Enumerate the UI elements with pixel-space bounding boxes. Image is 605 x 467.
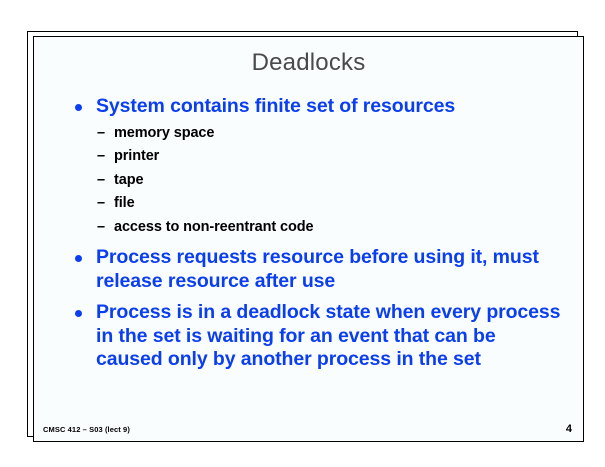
en-dash-icon: –: [97, 169, 105, 193]
sub-bullet-item: – tape: [66, 169, 566, 193]
bullet-item-1: System contains finite set of resources: [66, 95, 566, 119]
en-dash-icon: –: [97, 192, 105, 216]
sub-bullet-item: – access to non-reentrant code: [66, 216, 566, 240]
spacer: [66, 239, 566, 246]
sub-bullet-label: printer: [114, 148, 159, 164]
sub-bullet-list-1: – memory space – printer – tape – file –…: [66, 122, 566, 240]
footer-course-label: CMSC 412 – S03 (lect 9): [43, 425, 130, 434]
bullet-text-3: Process is in a deadlock state when ever…: [96, 301, 560, 370]
en-dash-icon: –: [97, 122, 105, 146]
sub-bullet-label: access to non-reentrant code: [114, 219, 313, 235]
bullet-item-2: Process requests resource before using i…: [66, 246, 566, 293]
en-dash-icon: –: [97, 145, 105, 169]
bullet-dot-icon: [75, 104, 82, 111]
sub-bullet-label: memory space: [114, 125, 214, 141]
page-number: 4: [566, 423, 572, 435]
bullet-item-3: Process is in a deadlock state when ever…: [66, 301, 566, 372]
bullet-list: System contains finite set of resources …: [66, 95, 566, 372]
sub-bullet-item: – printer: [66, 145, 566, 169]
bullet-text-1: System contains finite set of resources: [96, 95, 455, 117]
sub-bullet-label: tape: [114, 172, 143, 188]
bullet-dot-icon: [75, 255, 82, 262]
spacer: [66, 293, 566, 301]
bullet-text-2: Process requests resource before using i…: [96, 246, 539, 292]
page-title: Deadlocks: [34, 49, 583, 77]
en-dash-icon: –: [97, 216, 105, 240]
sub-bullet-item: – file: [66, 192, 566, 216]
sub-bullet-label: file: [114, 195, 135, 211]
sub-bullet-item: – memory space: [66, 122, 566, 146]
bullet-dot-icon: [75, 310, 82, 317]
slide-canvas: Deadlocks System contains finite set of …: [33, 36, 584, 442]
